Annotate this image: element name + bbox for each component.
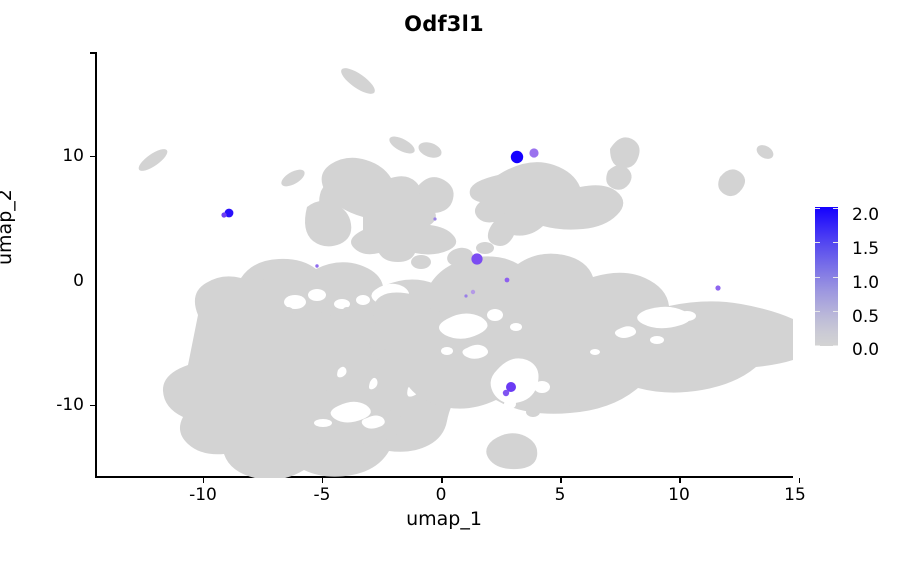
plot-axes: -10 -5 0 5 10 15 10 0 -10	[95, 52, 793, 478]
background-cell-cloud	[136, 64, 793, 478]
colorbar-label-1-0: 1.0	[852, 273, 879, 293]
colorbar-label-0-0: 0.0	[852, 340, 879, 360]
colorbar-tick-4b	[833, 345, 838, 346]
ytick-label-0: 10	[50, 146, 84, 166]
xtick-4	[679, 478, 681, 483]
ytick-2	[90, 405, 95, 407]
scatter-layer	[95, 52, 793, 478]
xtick-5	[799, 478, 801, 483]
xtick-label-0: -10	[189, 485, 217, 505]
colorbar-label-0-5: 0.5	[852, 307, 879, 327]
y-axis-label: umap_2	[0, 189, 16, 265]
scatter-svg	[95, 52, 793, 478]
xtick-label-2: 0	[436, 485, 447, 505]
ytick-label-2: -10	[40, 395, 84, 415]
xtick-3	[560, 478, 562, 483]
xtick-1	[322, 478, 324, 483]
colorbar-label-1-5: 1.5	[852, 239, 879, 259]
xtick-label-3: 5	[555, 485, 566, 505]
ytick-0	[90, 156, 95, 158]
colorbar-tick-3	[815, 311, 820, 312]
colorbar	[815, 207, 838, 346]
colorbar-tick-2b	[833, 277, 838, 278]
colorbar-tick-1	[815, 242, 820, 243]
xtick-label-5: 15	[784, 485, 806, 505]
ytick-label-1: 0	[50, 271, 84, 291]
xtick-2	[441, 478, 443, 483]
xtick-label-1: -5	[314, 485, 331, 505]
xtick-0	[203, 478, 205, 483]
colorbar-tick-4	[815, 345, 820, 346]
colorbar-tick-3b	[833, 311, 838, 312]
xtick-label-4: 10	[668, 485, 690, 505]
ytick-1	[90, 52, 95, 54]
colorbar-tick-0	[815, 208, 820, 209]
colorbar-label-2-0: 2.0	[852, 205, 879, 225]
page-title: Odf3l1	[95, 12, 793, 36]
colorbar-tick-2	[815, 277, 820, 278]
colorbar-tick-1b	[833, 242, 838, 243]
colorbar-tick-0b	[833, 208, 838, 209]
x-axis-label: umap_1	[95, 508, 793, 530]
umap-plot-figure: Odf3l1	[0, 0, 911, 562]
